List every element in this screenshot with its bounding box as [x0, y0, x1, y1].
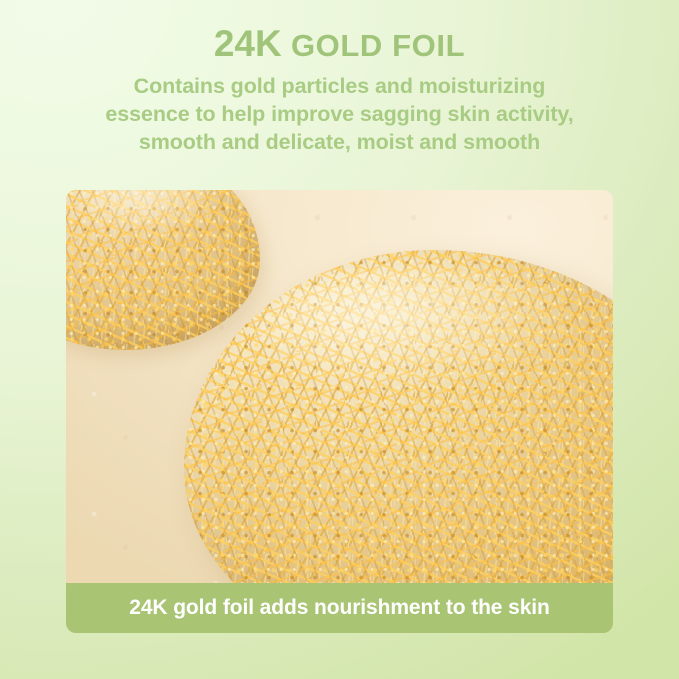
header: 24K GOLD FOIL Contains gold particles an…: [0, 0, 679, 156]
product-photo-card: [66, 190, 613, 633]
promo-page: 24K GOLD FOIL Contains gold particles an…: [0, 0, 679, 679]
title-strong: 24K: [214, 23, 282, 64]
subtitle-line-3: smooth and delicate, moist and smooth: [0, 128, 679, 156]
caption-text: 24K gold foil adds nourishment to the sk…: [129, 596, 550, 620]
subtitle: Contains gold particles and moisturizing…: [0, 64, 679, 156]
title-rest: GOLD FOIL: [282, 28, 465, 63]
gold-gel-photo: [66, 190, 613, 633]
subtitle-line-1: Contains gold particles and moisturizing: [0, 72, 679, 100]
caption-bar: 24K gold foil adds nourishment to the sk…: [66, 583, 613, 633]
subtitle-line-2: essence to help improve sagging skin act…: [0, 100, 679, 128]
page-title: 24K GOLD FOIL: [0, 0, 679, 64]
